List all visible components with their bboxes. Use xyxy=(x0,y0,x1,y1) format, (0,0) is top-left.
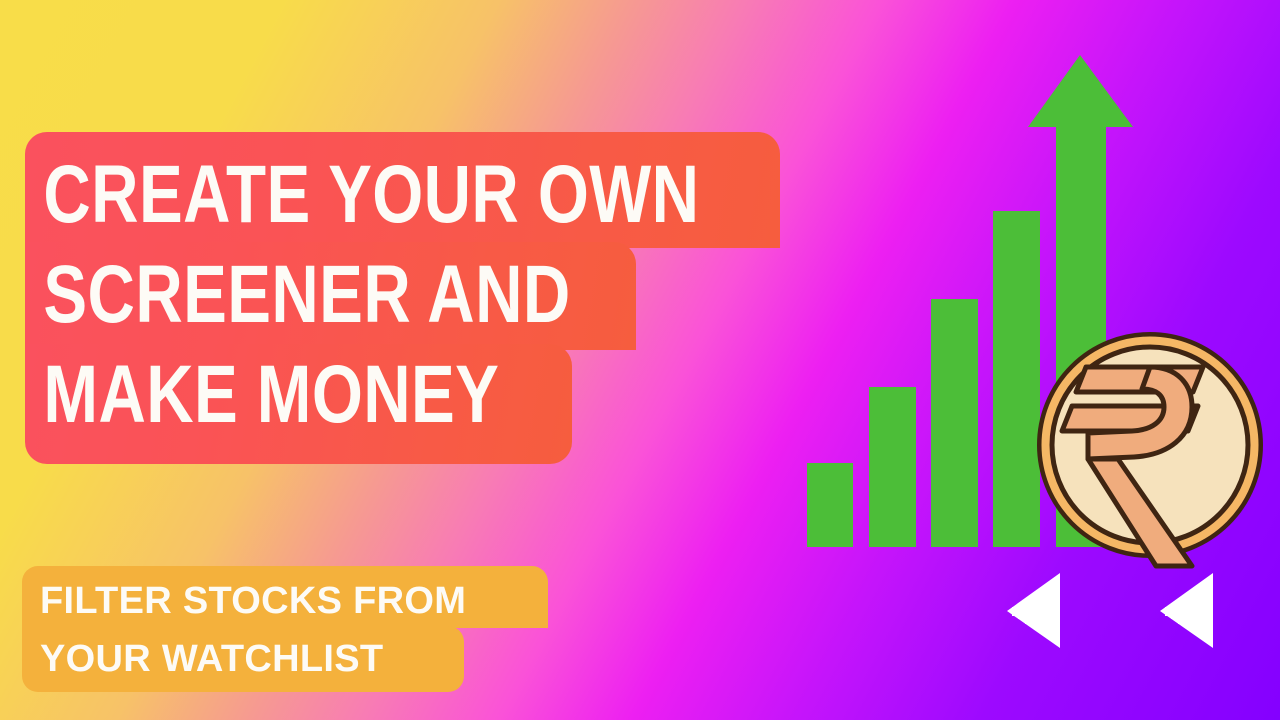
subtitle-line-2: YOUR WATCHLIST xyxy=(22,626,403,692)
poster-canvas: CREATE YOUR OWN SCREENER AND MAKE MONEY … xyxy=(0,0,1280,720)
subtitle-text-1: FILTER STOCKS FROM xyxy=(22,566,486,620)
headline-line-2: SCREENER AND xyxy=(25,242,731,350)
headline-text-1: CREATE YOUR OWN xyxy=(25,132,719,236)
headline: CREATE YOUR OWN SCREENER AND MAKE MONEY xyxy=(25,132,825,464)
headline-text-3: MAKE MONEY xyxy=(25,344,519,436)
subtitle-text-2: YOUR WATCHLIST xyxy=(22,626,403,678)
headline-line-3: MAKE MONEY xyxy=(25,344,642,464)
subtitle: FILTER STOCKS FROM YOUR WATCHLIST xyxy=(22,566,486,692)
headline-line-1: CREATE YOUR OWN xyxy=(25,132,892,248)
headline-text-2: SCREENER AND xyxy=(25,242,590,336)
subtitle-line-1: FILTER STOCKS FROM xyxy=(22,566,486,628)
